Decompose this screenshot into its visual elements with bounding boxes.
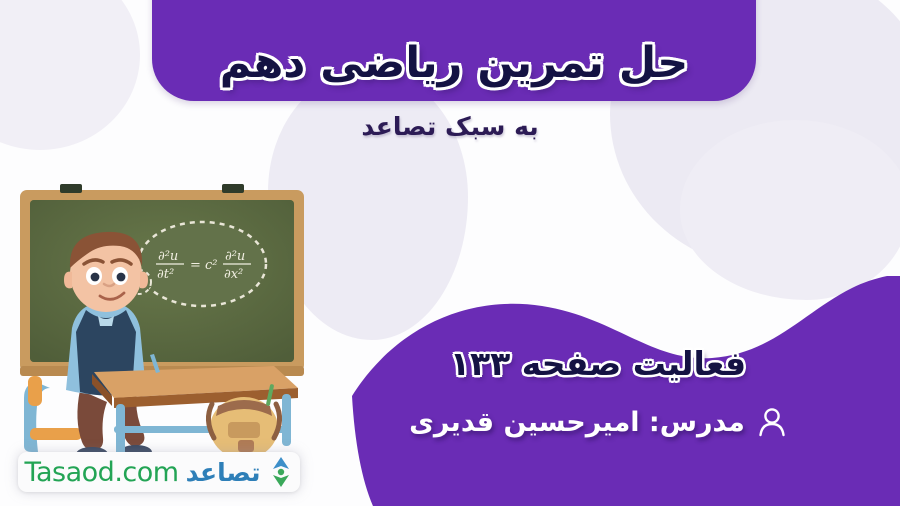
page-title: حل تمرین ریاضی دهم	[220, 38, 689, 101]
svg-text:∂²u: ∂²u	[158, 249, 178, 264]
title-banner: حل تمرین ریاضی دهم	[152, 0, 756, 101]
site-logo[interactable]: Tasaod.com تصاعد	[18, 452, 300, 492]
svg-text:=: =	[190, 258, 201, 273]
logo-text-persian: تصاعد	[186, 458, 261, 487]
subtitle: به سبک تصاعد	[0, 112, 900, 141]
activity-label: فعالیت صفحه ۱۳۳	[318, 344, 878, 383]
person-icon	[757, 406, 787, 438]
teacher-name: مدرس: امیرحسین قدیری	[409, 407, 745, 438]
svg-text:∂t²: ∂t²	[157, 267, 174, 282]
illustration-student-chalkboard: ∂²u ∂t² = c² ∂²u ∂x²	[6, 176, 316, 466]
slide-canvas: ∂²u ∂t² = c² ∂²u ∂x²	[0, 0, 900, 506]
decor-purple-wave-blob	[352, 276, 900, 506]
svg-text:∂x²: ∂x²	[224, 267, 243, 282]
svg-text:c²: c²	[205, 258, 218, 273]
svg-text:∂²u: ∂²u	[225, 249, 245, 264]
teacher-row: مدرس: امیرحسین قدیری	[318, 406, 878, 438]
ascend-arrow-icon	[268, 456, 294, 488]
logo-text-english: Tasaod.com	[24, 457, 178, 488]
decor-blob-right	[680, 120, 900, 300]
